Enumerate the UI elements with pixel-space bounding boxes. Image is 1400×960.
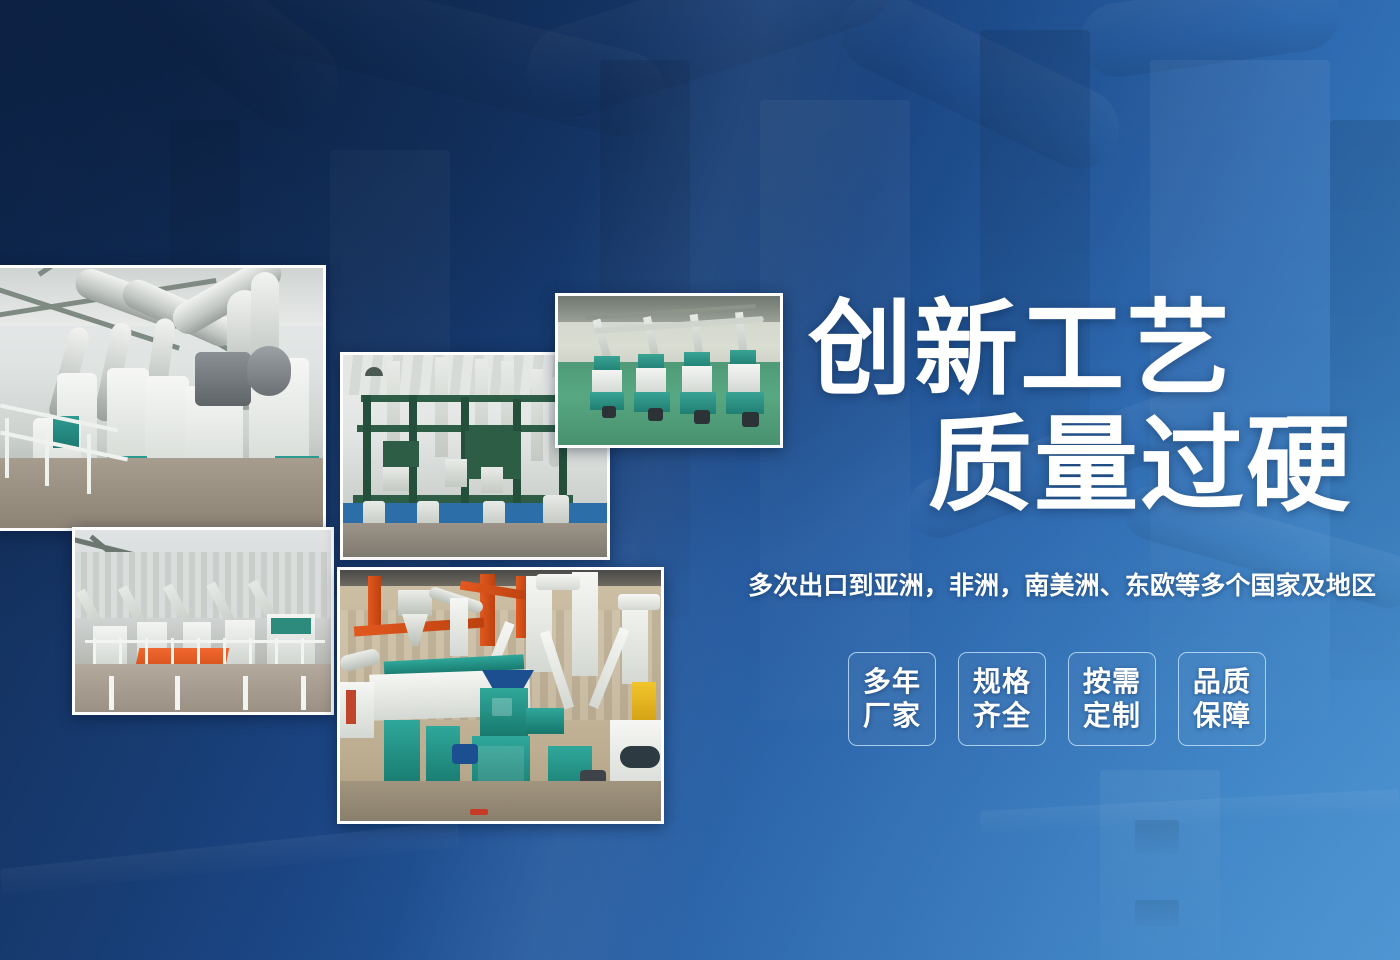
badge-line-2: 定制 <box>1083 699 1141 733</box>
headline-line-2: 质量过硬 <box>0 408 1400 524</box>
badge-line-2: 保障 <box>1193 699 1251 733</box>
badge-quality-guarantee[interactable]: 品质 保障 <box>1178 652 1266 746</box>
photo-teal-milling-plant <box>337 567 664 824</box>
photo-grain-cleaning-machines <box>72 527 334 715</box>
subtitle-text: 多次出口到亚洲，非洲，南美洲、东欧等多个国家及地区 <box>748 566 1400 602</box>
headline-block: 创新工艺 质量过硬 <box>0 292 1400 525</box>
badge-line-1: 规格 <box>973 665 1031 699</box>
badge-line-1: 品质 <box>1193 665 1251 699</box>
badge-line-1: 多年 <box>863 665 921 699</box>
badge-line-2: 齐全 <box>973 699 1031 733</box>
badge-custom-made-on-demand[interactable]: 按需 定制 <box>1068 652 1156 746</box>
badge-line-1: 按需 <box>1083 665 1141 699</box>
badge-many-years-manufacturer[interactable]: 多年 厂家 <box>848 652 936 746</box>
promo-banner: 创新工艺 质量过硬 多次出口到亚洲，非洲，南美洲、东欧等多个国家及地区 多年 厂… <box>0 0 1400 960</box>
feature-badge-row: 多年 厂家 规格 齐全 按需 定制 品质 保障 <box>848 652 1266 746</box>
badge-line-2: 厂家 <box>863 699 921 733</box>
badge-full-specifications[interactable]: 规格 齐全 <box>958 652 1046 746</box>
headline-line-1: 创新工艺 <box>0 292 1400 408</box>
